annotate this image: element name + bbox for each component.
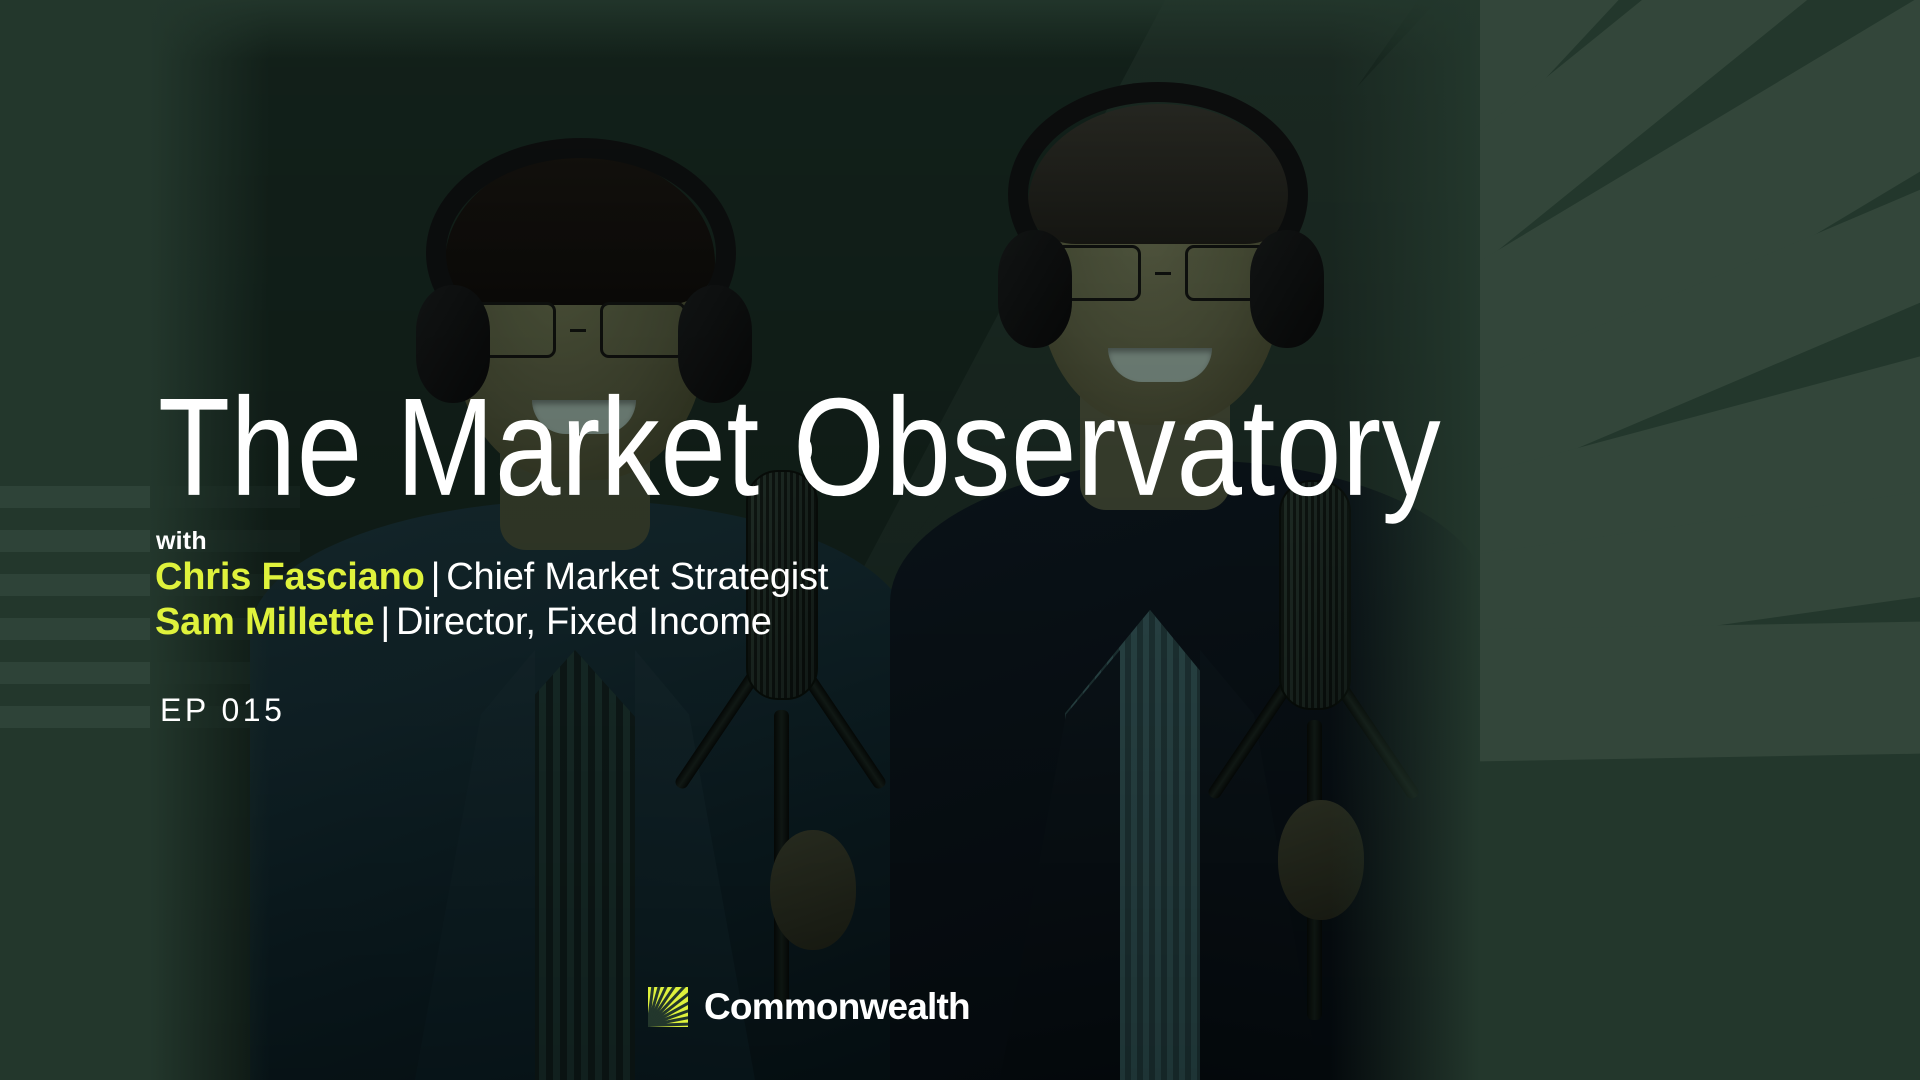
host-separator: | (425, 556, 447, 598)
page-title: The Market Observatory (158, 378, 1441, 517)
podcast-cover: The Market Observatory with Chris Fascia… (0, 0, 1920, 1080)
host-name: Sam Millette (155, 601, 374, 643)
commonwealth-logo: Commonwealth (648, 986, 970, 1028)
brand-name: Commonwealth (704, 986, 970, 1028)
host-credit-row: Sam Millette|Director, Fixed Income (155, 601, 772, 644)
host-role: Director, Fixed Income (396, 601, 772, 643)
host-separator: | (374, 601, 396, 643)
host-role: Chief Market Strategist (446, 556, 828, 598)
title-stylized-o: O (793, 378, 885, 517)
title-before-o: The Market (158, 370, 793, 526)
sunburst-square-icon (648, 987, 688, 1027)
cover-content: The Market Observatory with Chris Fascia… (0, 0, 1920, 1080)
host-credit-row: Chris Fasciano|Chief Market Strategist (155, 556, 828, 599)
title-after-o: bservatory (885, 370, 1441, 526)
with-label: with (156, 527, 207, 556)
host-name: Chris Fasciano (155, 556, 425, 598)
episode-number: EP 015 (160, 692, 285, 729)
